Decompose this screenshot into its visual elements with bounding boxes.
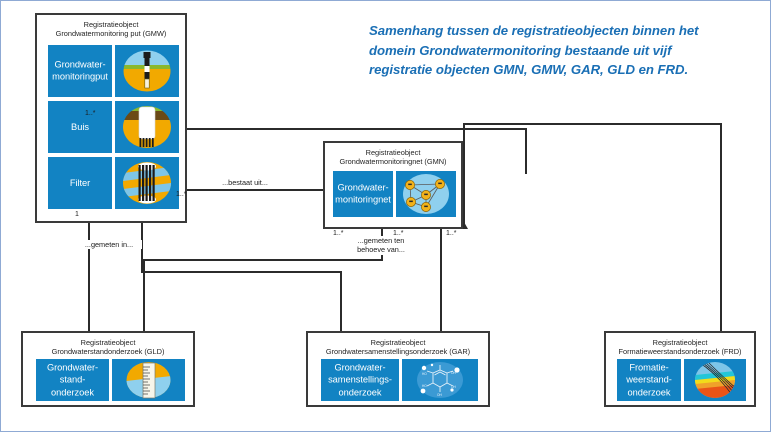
group-gmw-caption: Registratieobject Grondwatermonitoring p…	[37, 20, 185, 38]
entity-grondwatermonitoringnet-label: Grondwater- monitoringnet	[333, 182, 393, 207]
group-gld-caption-line1: Registratieobject	[81, 338, 136, 347]
entity-grondwaterstandonderzoek[interactable]: Grondwater- stand- onderzoek	[36, 359, 109, 401]
edge-label-gemeten-tbv-line1: ...gemeten ten	[358, 236, 405, 245]
group-gar[interactable]: Registratieobject Grondwatersamenstellin…	[306, 331, 490, 407]
water-level-icon	[112, 359, 185, 401]
svg-text:OH: OH	[451, 385, 456, 389]
edge-label-gemeten-in: ...gemeten in...	[76, 240, 142, 249]
svg-text:OH: OH	[451, 371, 456, 375]
diagram-canvas: Samenhang tussen de registratieobjecten …	[0, 0, 771, 432]
multiplicity-gmn-right: 1..*	[446, 230, 457, 237]
multiplicity-filter-gld: 1	[75, 211, 79, 218]
group-gmw-caption-line2: Grondwatermonitoring put (GMW)	[56, 29, 167, 38]
molecule-icon: HOOH HOOH OH	[402, 359, 478, 401]
multiplicity-gmn-left: 1..*	[333, 230, 344, 237]
group-gld-caption-line2: Grondwaterstandonderzoek (GLD)	[52, 347, 165, 356]
edge-gld-gmn-vertical-left	[143, 259, 145, 331]
svg-text:OH: OH	[437, 393, 442, 397]
edge-gar-filter-horizontal	[141, 271, 342, 273]
entity-grondwatermonitoringnet[interactable]: Grondwater- monitoringnet	[333, 171, 393, 217]
diagram-title: Samenhang tussen de registratieobjecten …	[369, 21, 761, 80]
entity-grondwatersamenstellingsonderzoek-label: Grondwater- samenstellings- onderzoek	[321, 361, 399, 398]
edge-frd-gmn-vertical-right	[720, 123, 722, 331]
svg-text:HO: HO	[422, 384, 427, 388]
entity-filter[interactable]: Filter	[48, 157, 112, 209]
edge-frd-gmn-vertical-left	[463, 123, 465, 229]
group-gar-caption-line2: Grondwatersamenstellingsonderzoek (GAR)	[326, 347, 470, 356]
group-gmn[interactable]: Registratieobject Grondwatermonitoringne…	[323, 141, 463, 229]
edge-gld-gmn-horizontal	[143, 259, 383, 261]
well-tube-icon	[115, 101, 179, 153]
edge-frd-gmn-horizontal	[463, 123, 722, 125]
group-gld[interactable]: Registratieobject Grondwaterstandonderzo…	[21, 331, 195, 407]
group-gld-caption: Registratieobject Grondwaterstandonderzo…	[23, 338, 193, 356]
group-gar-caption-line1: Registratieobject	[371, 338, 426, 347]
edge-gar-filter-vertical-right	[340, 271, 342, 331]
edge-label-gemeten-tbv-line2: behoeve van...	[357, 245, 405, 254]
group-frd[interactable]: Registratieobject Formatieweerstandsonde…	[604, 331, 756, 407]
monitoring-well-icon	[115, 45, 179, 97]
edge-label-gemeten-tbv: ...gemeten ten behoeve van...	[350, 236, 412, 255]
entity-formatieweerstandsonderzoek-label: Fromatie- weerstand- onderzoek	[617, 361, 681, 398]
monitoring-network-icon	[396, 171, 456, 217]
edge-gar-gmn-vertical	[440, 229, 442, 331]
entity-grondwaterstandonderzoek-label: Grondwater- stand- onderzoek	[36, 361, 109, 398]
entity-grondwatermonitoringput[interactable]: Grondwater- monitoringput	[48, 45, 112, 97]
group-gmw[interactable]: Registratieobject Grondwatermonitoring p…	[35, 13, 187, 223]
multiplicity-filter-gmn: 1..*	[176, 191, 187, 198]
entity-grondwatermonitoringput-label: Grondwater- monitoringput	[48, 59, 112, 84]
edge-gmn-buis-horizontal	[187, 128, 527, 130]
svg-text:HO: HO	[422, 372, 427, 376]
group-frd-caption-line1: Registratieobject	[653, 338, 708, 347]
multiplicity-gmn-mid: 1..*	[393, 230, 404, 237]
group-frd-caption-line2: Formatieweerstandsonderzoek (FRD)	[619, 347, 742, 356]
well-filter-icon	[115, 157, 179, 209]
group-gmw-caption-line1: Registratieobject	[84, 20, 139, 29]
entity-filter-label: Filter	[48, 177, 112, 189]
title-line-1: Samenhang tussen de registratieobjecten …	[369, 21, 761, 41]
group-frd-caption: Registratieobject Formatieweerstandsonde…	[606, 338, 754, 356]
multiplicity-put-buis: 1..*	[85, 110, 96, 117]
entity-buis[interactable]: Buis	[48, 101, 112, 153]
entity-formatieweerstandsonderzoek[interactable]: Fromatie- weerstand- onderzoek	[617, 359, 681, 401]
entity-grondwatersamenstellingsonderzoek[interactable]: Grondwater- samenstellings- onderzoek	[321, 359, 399, 401]
title-line-2: domein Grondwatermonitoring bestaande ui…	[369, 41, 761, 61]
group-gmn-caption: Registratieobject Grondwatermonitoringne…	[325, 148, 461, 166]
formation-resistance-icon	[684, 359, 746, 401]
edge-gmn-filter-horizontal	[187, 189, 325, 191]
title-line-3: registratie objecten GMN, GMW, GAR, GLD …	[369, 60, 761, 80]
edge-label-bestaat-uit: ...bestaat uit...	[213, 178, 277, 187]
group-gmn-caption-line1: Registratieobject	[366, 148, 421, 157]
group-gmn-caption-line2: Grondwatermonitoringnet (GMN)	[339, 157, 446, 166]
group-gar-caption: Registratieobject Grondwatersamenstellin…	[308, 338, 488, 356]
edge-gmn-buis-vertical	[525, 128, 527, 174]
entity-buis-label: Buis	[48, 121, 112, 133]
